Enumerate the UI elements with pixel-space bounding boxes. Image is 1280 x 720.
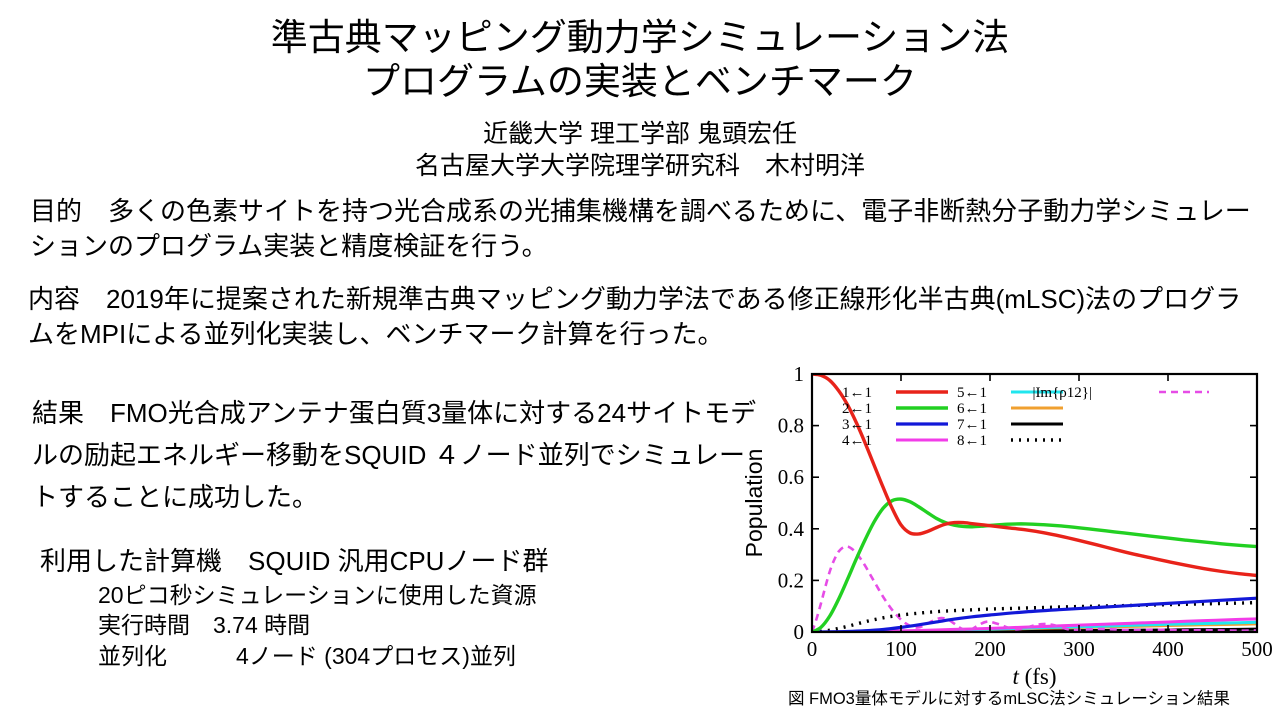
legend-label: 3←1 bbox=[842, 417, 872, 433]
machine-parallel-line: 並列化 4ノード (304プロセス)並列 bbox=[40, 641, 760, 671]
x-tick-label: 500 bbox=[1241, 637, 1273, 661]
legend-label: 6←1 bbox=[957, 401, 987, 417]
x-tick-label: 300 bbox=[1063, 637, 1095, 661]
legend-label: 4←1 bbox=[842, 433, 872, 449]
y-tick-label: 0.4 bbox=[778, 517, 805, 541]
legend-label: |Im{ρ12}| bbox=[1032, 385, 1092, 401]
machine-block: 利用した計算機 SQUID 汎用CPUノード群 20ピコ秒シミュレーションに使用… bbox=[40, 548, 760, 671]
x-tick-label: 200 bbox=[974, 637, 1006, 661]
legend-label: 7←1 bbox=[957, 417, 987, 433]
author-line-1: 近畿大学 理工学部 鬼頭宏任 bbox=[0, 118, 1280, 150]
population-line-chart: 010020030040050000.20.40.60.81t (fs)Popu… bbox=[744, 360, 1274, 690]
x-axis-label: t (fs) bbox=[1012, 664, 1056, 689]
y-tick-label: 0.2 bbox=[778, 568, 804, 592]
result-paragraph: 結果 FMO光合成アンテナ蛋白質3量体に対する24サイトモデルの励起エネルギー移… bbox=[32, 392, 762, 518]
title-line-1: 準古典マッピング動力学シミュレーション法 bbox=[271, 17, 1010, 58]
legend-label: 5←1 bbox=[957, 385, 987, 401]
author-block: 近畿大学 理工学部 鬼頭宏任 名古屋大学大学院理学研究科 木村明洋 bbox=[0, 118, 1280, 182]
legend-label: 8←1 bbox=[957, 433, 987, 449]
legend-label: 1←1 bbox=[842, 385, 872, 401]
slide-root: 準古典マッピング動力学シミュレーション法 プログラムの実装とベンチマーク 近畿大… bbox=[0, 0, 1280, 720]
figure-caption: 図 FMO3量体モデルに対するmLSC法シミュレーション結果 bbox=[744, 690, 1274, 710]
y-tick-label: 0 bbox=[794, 620, 805, 644]
y-axis-label: Population bbox=[744, 449, 767, 558]
x-tick-label: 0 bbox=[807, 637, 818, 661]
x-tick-label: 100 bbox=[885, 637, 917, 661]
machine-runtime-line: 実行時間 3.74 時間 bbox=[40, 610, 760, 640]
plot-background bbox=[812, 374, 1257, 632]
x-tick-label: 400 bbox=[1152, 637, 1184, 661]
figure-panel: 010020030040050000.20.40.60.81t (fs)Popu… bbox=[744, 360, 1274, 712]
machine-resource-line: 20ピコ秒シミュレーションに使用した資源 bbox=[40, 580, 760, 610]
author-line-2: 名古屋大学大学院理学研究科 木村明洋 bbox=[0, 150, 1280, 182]
page-title: 準古典マッピング動力学シミュレーション法 プログラムの実装とベンチマーク bbox=[0, 16, 1280, 103]
purpose-paragraph: 目的 多くの色素サイトを持つ光合成系の光捕集機構を調べるために、電子非断熱分子動… bbox=[30, 194, 1260, 264]
y-tick-label: 1 bbox=[794, 362, 805, 386]
y-tick-label: 0.8 bbox=[778, 414, 804, 438]
y-tick-label: 0.6 bbox=[778, 465, 804, 489]
legend-label: 2←1 bbox=[842, 401, 872, 417]
machine-heading: 利用した計算機 SQUID 汎用CPUノード群 bbox=[40, 548, 760, 574]
title-line-2: プログラムの実装とベンチマーク bbox=[0, 60, 1280, 104]
content-paragraph: 内容 2019年に提案された新規準古典マッピング動力学法である修正線形化半古典(… bbox=[28, 282, 1263, 352]
